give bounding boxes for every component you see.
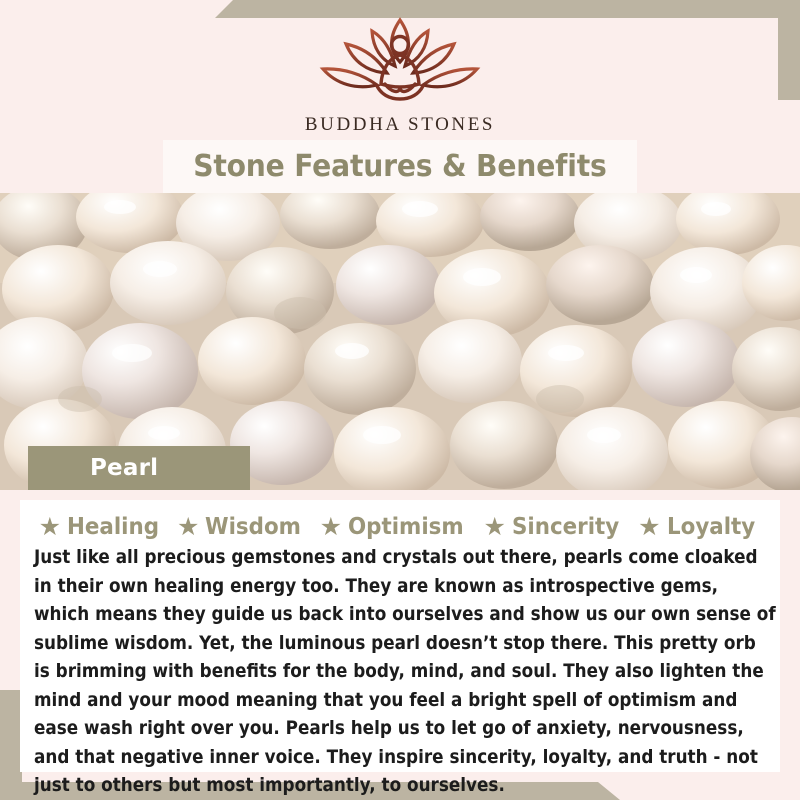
lotus-meditation-figure-icon: [315, 14, 485, 112]
star-icon: ★: [320, 515, 342, 540]
benefit-item-loyalty: ★ Loyalty: [638, 514, 761, 540]
benefit-item-sincerity: ★ Sincerity: [483, 514, 627, 540]
benefits-list: ★ Healing ★ Wisdom ★ Optimism ★ Sincerit…: [20, 500, 780, 540]
star-icon: ★: [39, 515, 61, 540]
title-banner: Stone Features & Benefits: [163, 140, 637, 193]
benefit-label: Loyalty: [667, 514, 755, 540]
stone-name-label: Pearl: [28, 446, 250, 490]
brand-logo: BUDDHA STONES: [0, 14, 800, 136]
hero-image-pearls: Pearl: [0, 193, 800, 490]
benefit-label: Sincerity: [512, 514, 619, 540]
page-title: Stone Features & Benefits: [193, 149, 606, 184]
infographic-root: BUDDHA STONES Stone Features & Benefits: [0, 0, 800, 800]
content-card: ★ Healing ★ Wisdom ★ Optimism ★ Sincerit…: [20, 500, 780, 772]
stone-name-text: Pearl: [28, 455, 158, 481]
star-icon: ★: [483, 515, 505, 540]
star-icon: ★: [177, 515, 199, 540]
benefit-item-healing: ★ Healing: [39, 514, 166, 540]
benefit-item-wisdom: ★ Wisdom: [177, 514, 309, 540]
star-icon: ★: [638, 515, 660, 540]
stone-description: Just like all precious gemstones and cry…: [34, 544, 776, 800]
brand-wordmark: BUDDHA STONES: [0, 114, 800, 136]
benefit-label: Healing: [67, 514, 159, 540]
benefit-label: Wisdom: [205, 514, 301, 540]
benefit-item-optimism: ★ Optimism: [320, 514, 473, 540]
benefit-label: Optimism: [348, 514, 464, 540]
